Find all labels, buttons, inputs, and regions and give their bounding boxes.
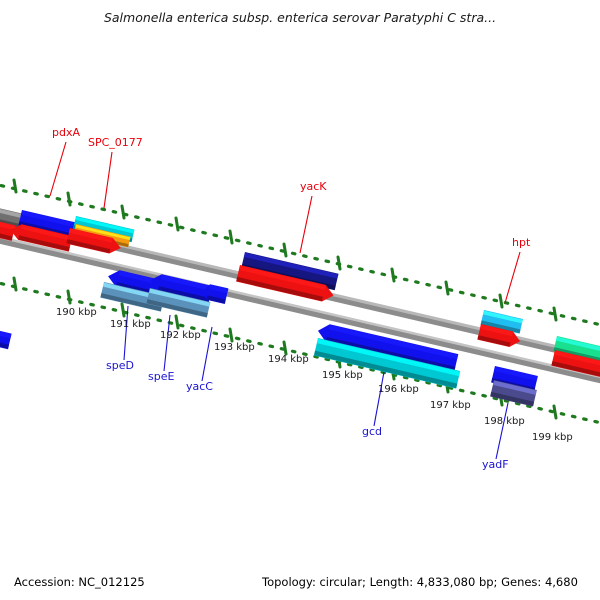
gene-label-text-yadF[interactable]: yadF <box>482 458 509 471</box>
ruler-tick-label: 199 kbp <box>532 432 573 443</box>
ruler-tick-label: 198 kbp <box>484 416 525 427</box>
genome-browser-canvas[interactable]: Salmonella enterica subsp. enterica sero… <box>0 0 600 600</box>
gene-label-text-speE[interactable]: speE <box>148 370 174 383</box>
ruler-tick-label: 193 kbp <box>214 342 255 353</box>
ruler-tick-label: 191 kbp <box>110 319 151 330</box>
gene-label-text-hpt[interactable]: hpt <box>512 236 531 249</box>
ruler-tick-label: 190 kbp <box>56 307 97 318</box>
ruler-tick-label: 194 kbp <box>268 354 309 365</box>
gene-label-text-yacK[interactable]: yacK <box>300 180 327 193</box>
gene-label-text-gcd[interactable]: gcd <box>362 425 382 438</box>
ruler-tick-label: 197 kbp <box>430 400 471 411</box>
gene-label-text-SPC_0177[interactable]: SPC_0177 <box>88 136 143 149</box>
ruler-tick-label: 195 kbp <box>322 370 363 381</box>
organism-title: Salmonella enterica subsp. enterica sero… <box>104 10 496 25</box>
ruler-tick-label: 196 kbp <box>378 384 419 395</box>
gene-label-text-pdxA[interactable]: pdxA <box>52 126 80 139</box>
gene-label-text-speD[interactable]: speD <box>106 359 134 372</box>
canvas-background <box>0 0 600 600</box>
genome-summary-status: Topology: circular; Length: 4,833,080 bp… <box>261 575 578 589</box>
accession-status: Accession: NC_012125 <box>14 575 145 589</box>
gene-label-text-yacC[interactable]: yacC <box>186 380 213 393</box>
ruler-tick-label: 192 kbp <box>160 330 201 341</box>
